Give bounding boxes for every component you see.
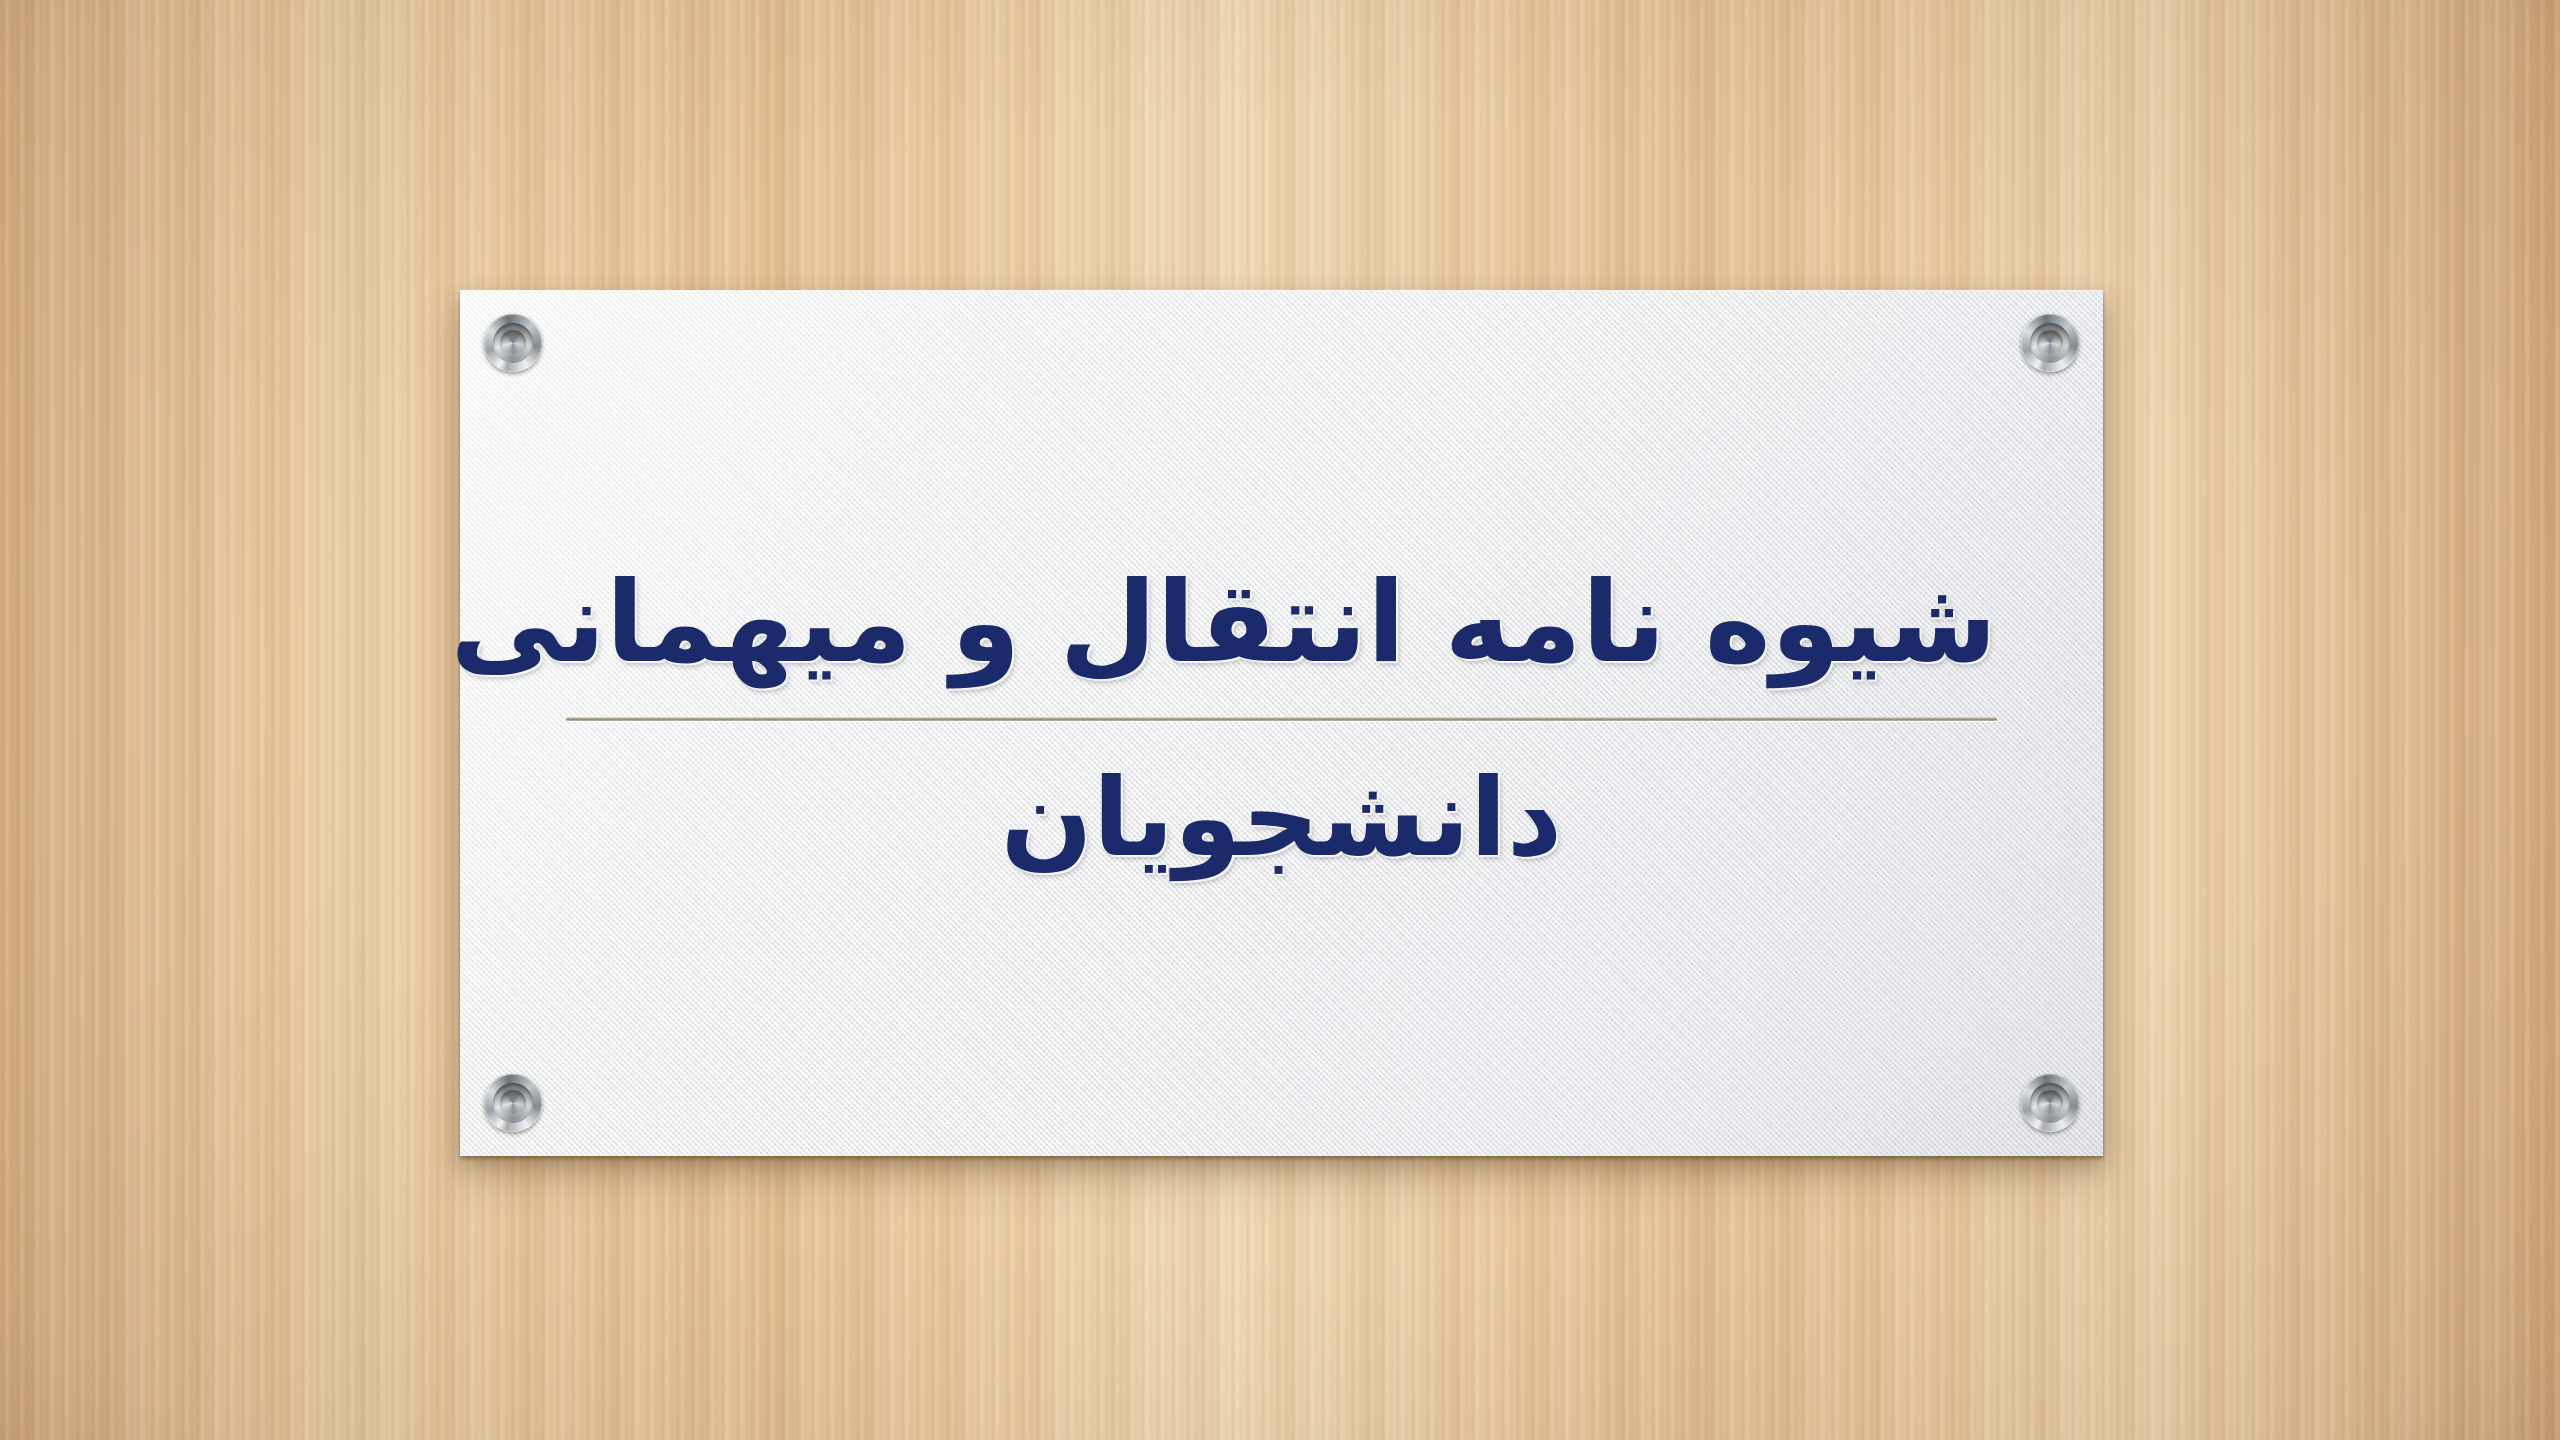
banner-content: شیوه نامه انتقال و میهمانی دانشجویان: [460, 290, 2103, 1156]
slide-canvas: شیوه نامه انتقال و میهمانی دانشجویان: [0, 0, 2560, 1440]
banner-panel: شیوه نامه انتقال و میهمانی دانشجویان: [460, 290, 2103, 1156]
title-line-2: دانشجویان: [566, 755, 1997, 882]
title-divider: [566, 717, 1997, 721]
title-line-1: شیوه نامه انتقال و میهمانی: [566, 557, 1997, 689]
